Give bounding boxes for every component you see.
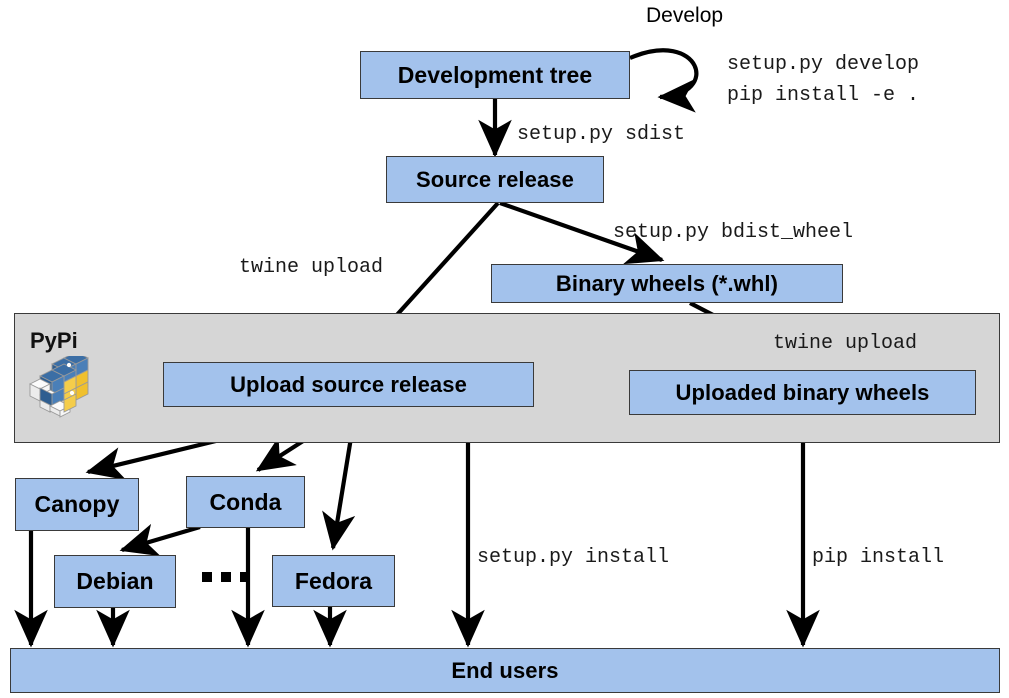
label-pip-install-editable: pip install -e . [727,84,919,107]
node-canopy[interactable]: Canopy [15,478,139,531]
label-pip-install: pip install [812,546,944,569]
ellipsis-dot [240,572,250,582]
ellipsis-indicator [202,572,250,582]
node-source-release[interactable]: Source release [386,156,604,203]
node-debian[interactable]: Debian [54,555,176,608]
pypi-logo-icon [26,356,92,418]
label-twine-upload-source: twine upload [239,256,383,279]
ellipsis-dot [202,572,212,582]
ellipsis-dot [221,572,231,582]
node-end-users[interactable]: End users [10,648,1000,693]
node-conda[interactable]: Conda [186,476,305,528]
label-develop: Develop [646,4,723,28]
node-uploaded-binary-wheels[interactable]: Uploaded binary wheels [629,370,976,415]
diagram-canvas: PyPi [0,0,1009,698]
label-twine-upload-wheels: twine upload [773,332,917,355]
node-development-tree[interactable]: Development tree [360,51,630,99]
pypi-panel-title: PyPi [30,328,78,354]
node-binary-wheels[interactable]: Binary wheels (*.whl) [491,264,843,303]
label-setup-py-bdist-wheel: setup.py bdist_wheel [613,221,853,244]
label-setup-py-sdist: setup.py sdist [517,123,685,146]
label-setup-py-install: setup.py install [477,546,669,569]
label-setup-py-develop: setup.py develop [727,53,919,76]
node-fedora[interactable]: Fedora [272,555,395,607]
node-upload-source-release[interactable]: Upload source release [163,362,534,407]
